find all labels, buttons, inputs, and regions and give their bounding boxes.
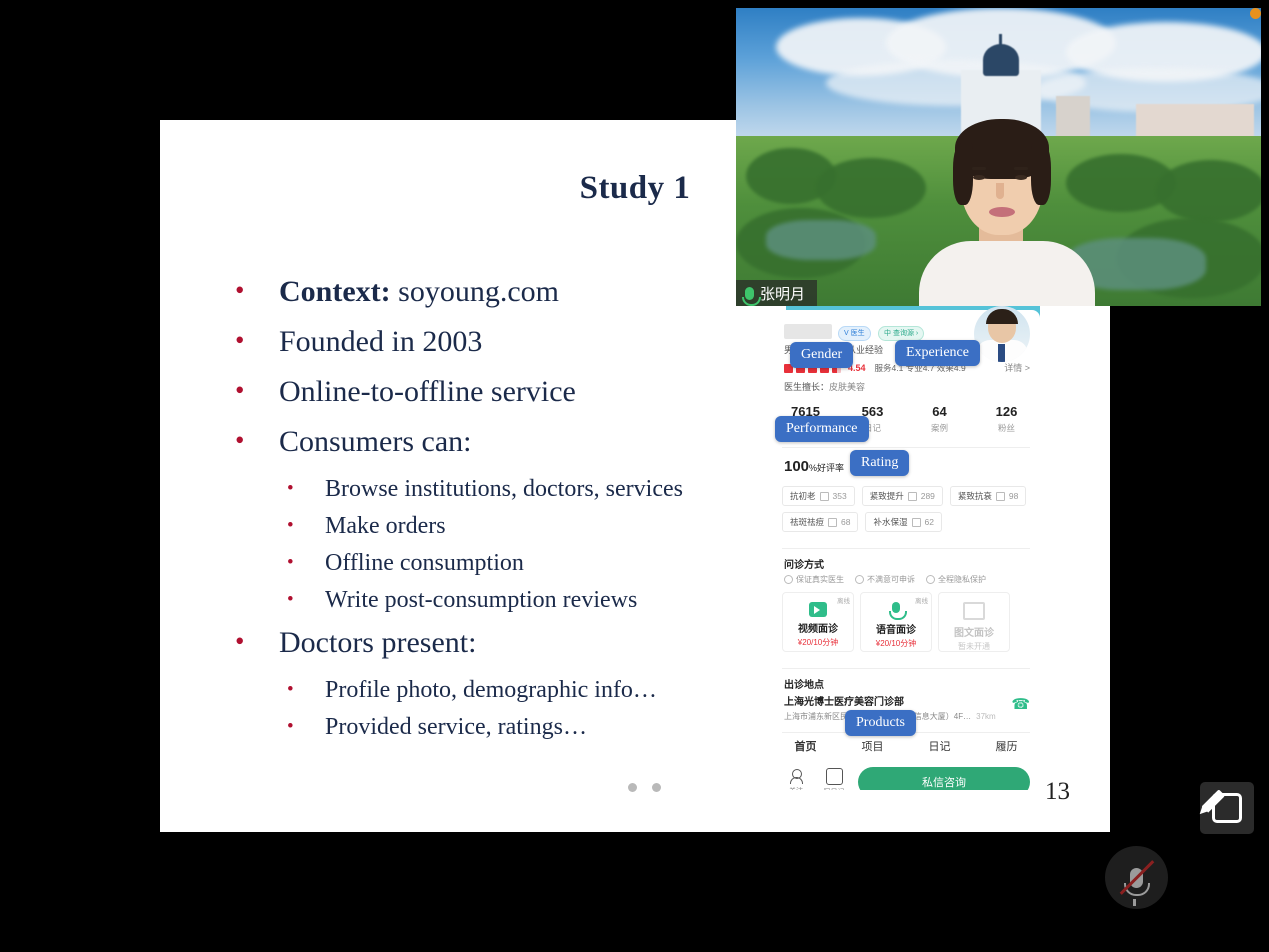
eyebrow-shape xyxy=(972,167,986,170)
stat-label: 案例 xyxy=(906,422,973,434)
bullet-dot: • xyxy=(235,375,279,405)
tree-shape xyxy=(1156,160,1261,222)
consult-card-price: ¥20/10分钟 xyxy=(861,638,931,649)
tag-count: 62 xyxy=(925,517,934,527)
bullet-item: • Online-to-offline service xyxy=(235,375,795,409)
guarantee-text: 全程隐私保护 xyxy=(938,574,986,585)
thumbs-up-icon xyxy=(908,492,917,501)
tab-resume[interactable]: 履历 xyxy=(973,738,1040,754)
bullet-text: Write post-consumption reviews xyxy=(325,586,637,614)
bullet-dot: • xyxy=(287,549,325,577)
torso-shape xyxy=(919,241,1095,306)
participant-video-tile[interactable]: 张明月 xyxy=(736,8,1261,306)
bullet-dot: • xyxy=(235,626,279,656)
sub-bullet-item: • Browse institutions, doctors, services xyxy=(235,475,795,503)
tag-name: 抗初老 xyxy=(790,490,816,502)
recording-indicator-dot xyxy=(1250,8,1261,19)
thumbs-up-icon xyxy=(996,492,1005,501)
bullet-text: Consumers can: xyxy=(279,425,471,459)
hair-shape xyxy=(1031,143,1051,205)
divider xyxy=(782,668,1030,669)
eyebrow-shape xyxy=(1014,167,1028,170)
sub-bullet-item: • Offline consumption xyxy=(235,549,795,577)
guarantee-item: 不满意可申诉 xyxy=(855,574,915,585)
bullet-text: Founded in 2003 xyxy=(279,325,482,359)
consult-card-name: 图文面诊 xyxy=(939,624,1009,639)
video-icon xyxy=(809,602,827,617)
tag-count: 353 xyxy=(833,491,847,501)
tag-name: 紧致抗衰 xyxy=(958,490,992,502)
guarantee-text: 保证真实医生 xyxy=(796,574,844,585)
clinic-distance: 37km xyxy=(976,712,996,721)
stat-label: 粉丝 xyxy=(973,422,1040,434)
bullet-item: • Context: soyoung.com xyxy=(235,275,795,309)
bullet-text: Doctors present: xyxy=(279,626,476,660)
sub-bullet-item: • Profile photo, demographic info… xyxy=(235,676,795,704)
guarantee-text: 不满意可申诉 xyxy=(867,574,915,585)
private-consult-button[interactable]: 私信咨询 xyxy=(858,767,1030,790)
source-badge: 中 查询源 › xyxy=(878,326,924,341)
consult-card-text: 图文面诊 暂未开通 xyxy=(938,592,1010,652)
follow-label: 关注 xyxy=(782,786,810,791)
check-circle-icon xyxy=(784,575,793,584)
tab-projects[interactable]: 项目 xyxy=(839,738,906,754)
specialty-row: 医生擅长：皮肤美容 xyxy=(784,380,865,393)
consult-card-voice[interactable]: 离线 语音面诊 ¥20/10分钟 xyxy=(860,592,932,652)
eye-shape xyxy=(1015,175,1027,180)
meeting-screen: Study 1 • Context: soyoung.com • Founded… xyxy=(0,0,1269,952)
eye-shape xyxy=(973,175,985,180)
annotate-button[interactable] xyxy=(1200,782,1254,834)
tag-name: 紧致提升 xyxy=(870,490,904,502)
participant-name: 张明月 xyxy=(760,283,805,304)
consult-card-video[interactable]: 离线 视频面诊 ¥20/10分钟 xyxy=(782,592,854,652)
phone-call-icon[interactable]: ☎ xyxy=(1011,695,1030,713)
mouth-shape xyxy=(989,207,1015,217)
consult-card-name: 视频面诊 xyxy=(783,620,853,635)
bullet-dot: • xyxy=(235,275,279,305)
image-icon xyxy=(963,602,985,620)
guarantee-item: 保证真实医生 xyxy=(784,574,844,585)
write-diary-label: 写日记 xyxy=(820,787,848,791)
divider xyxy=(782,447,1030,448)
stat-cell: 126 粉丝 xyxy=(973,404,1040,434)
tab-home[interactable]: 首页 xyxy=(772,738,839,754)
sub-bullet-item: • Provided service, ratings… xyxy=(235,713,795,741)
dome-shape xyxy=(983,44,1019,76)
tag-count: 289 xyxy=(921,491,935,501)
doctor-avatar xyxy=(974,306,1030,362)
spire-shape xyxy=(999,34,1002,46)
tab-diary[interactable]: 日记 xyxy=(906,738,973,754)
specialty-tag-list: 抗初老353 紧致提升289 紧致抗衰98 祛斑祛痘68 补水保湿62 xyxy=(782,486,1032,532)
progress-dot xyxy=(652,783,661,792)
stat-cell: 64 案例 xyxy=(906,404,973,434)
bullet-dot: • xyxy=(287,586,325,614)
bullet-dot: • xyxy=(287,713,325,741)
stat-value: 126 xyxy=(973,404,1040,419)
water-shape xyxy=(766,220,876,260)
sub-bullet-item: • Make orders xyxy=(235,512,795,540)
check-circle-icon xyxy=(926,575,935,584)
bullet-dot: • xyxy=(287,512,325,540)
bullet-text: Profile photo, demographic info… xyxy=(325,676,657,704)
bullet-dot: • xyxy=(235,425,279,455)
praise-rate-unit: %好评率 xyxy=(809,463,844,473)
callout-experience: Experience xyxy=(895,340,980,366)
callout-products: Products xyxy=(845,710,916,736)
write-diary-icon xyxy=(826,768,843,785)
tag-name: 补水保湿 xyxy=(873,516,907,528)
callout-performance: Performance xyxy=(775,416,869,442)
bullet-dot: • xyxy=(287,676,325,704)
consult-card-price: 暂未开通 xyxy=(939,641,1009,652)
tag-count: 98 xyxy=(1009,491,1018,501)
detail-link[interactable]: 详情 > xyxy=(1004,361,1030,374)
tie-shape xyxy=(998,344,1005,362)
sub-bullet-item: • Write post-consumption reviews xyxy=(235,586,795,614)
write-diary-button[interactable]: 写日记 xyxy=(820,768,848,791)
specialty-label: 医生擅长： xyxy=(784,382,829,392)
mute-indicator[interactable] xyxy=(1105,846,1168,909)
tag-name: 祛斑祛痘 xyxy=(790,516,824,528)
praise-rate-value: 100 xyxy=(784,458,809,475)
bullet-dot: • xyxy=(287,475,325,503)
app-bottom-bar: 关注 写日记 私信咨询 xyxy=(772,760,1040,790)
bullet-text: Make orders xyxy=(325,512,446,540)
consult-card-list: 离线 视频面诊 ¥20/10分钟 离线 语音面诊 ¥20/10分钟 图文面诊 xyxy=(782,592,1010,652)
slide-bullet-list: • Context: soyoung.com • Founded in 2003… xyxy=(235,275,795,750)
slide-page-number: 13 xyxy=(1045,778,1070,806)
thumbs-up-icon xyxy=(828,518,837,527)
bullet-text: Online-to-offline service xyxy=(279,375,576,409)
specialty-value: 皮肤美容 xyxy=(829,382,865,392)
consult-card-price: ¥20/10分钟 xyxy=(783,637,853,648)
bullet-text: Browse institutions, doctors, services xyxy=(325,475,683,503)
person-follow-icon xyxy=(789,769,804,784)
annotate-pencil-icon xyxy=(1212,793,1242,823)
callout-rating: Rating xyxy=(850,450,909,476)
bullet-item: • Doctors present: xyxy=(235,626,795,660)
bullet-text: Context: soyoung.com xyxy=(279,275,559,309)
bullet-rest: soyoung.com xyxy=(398,275,559,308)
pencil-shape xyxy=(1202,789,1225,812)
microphone-icon xyxy=(745,287,754,300)
check-circle-icon xyxy=(855,575,864,584)
specialty-tag[interactable]: 紧致抗衰98 xyxy=(950,486,1026,506)
nose-shape xyxy=(996,183,1004,199)
hair-shape xyxy=(953,143,973,205)
hair-shape xyxy=(986,309,1018,324)
clinic-name: 上海光博士医疗美容门诊部 xyxy=(784,693,996,708)
thumbs-up-icon xyxy=(912,518,921,527)
progress-dot xyxy=(628,783,637,792)
guarantee-row: 保证真实医生 不满意可申诉 全程隐私保护 xyxy=(784,574,986,585)
consult-section-title: 问诊方式 xyxy=(784,556,824,571)
location-section-title: 出诊地点 xyxy=(784,676,824,691)
specialty-tag[interactable]: 补水保湿62 xyxy=(865,512,941,532)
offline-badge: 离线 xyxy=(915,595,928,605)
specialty-tag[interactable]: 抗初老353 xyxy=(782,486,855,506)
divider xyxy=(782,548,1030,549)
bullet-item: • Founded in 2003 xyxy=(235,325,795,359)
bullet-dot: • xyxy=(235,325,279,355)
specialty-tag[interactable]: 紧致提升289 xyxy=(862,486,943,506)
follow-button[interactable]: 关注 xyxy=(782,769,810,791)
consult-card-name: 语音面诊 xyxy=(861,621,931,636)
tree-shape xyxy=(816,158,926,218)
doctor-name-redacted xyxy=(784,324,832,339)
offline-badge: 离线 xyxy=(837,595,850,605)
stat-value: 64 xyxy=(906,404,973,419)
app-tab-bar: 首页 项目 日记 履历 xyxy=(772,738,1040,754)
participant-figure xyxy=(911,113,1101,306)
bullet-item: • Consumers can: xyxy=(235,425,795,459)
thumbs-up-icon xyxy=(820,492,829,501)
guarantee-item: 全程隐私保护 xyxy=(926,574,986,585)
participant-name-badge: 张明月 xyxy=(736,280,817,306)
specialty-tag[interactable]: 祛斑祛痘68 xyxy=(782,512,858,532)
mic-icon xyxy=(892,602,900,613)
bullet-text: Provided service, ratings… xyxy=(325,713,587,741)
tag-count: 68 xyxy=(841,517,850,527)
verified-doctor-badge: V 医生 xyxy=(838,326,871,341)
praise-rate-row: 100%好评率 xyxy=(784,458,844,476)
callout-gender: Gender xyxy=(790,342,853,368)
bullet-bold-prefix: Context: xyxy=(279,275,391,308)
bullet-text: Offline consumption xyxy=(325,549,524,577)
slide-progress-dots xyxy=(628,783,661,792)
